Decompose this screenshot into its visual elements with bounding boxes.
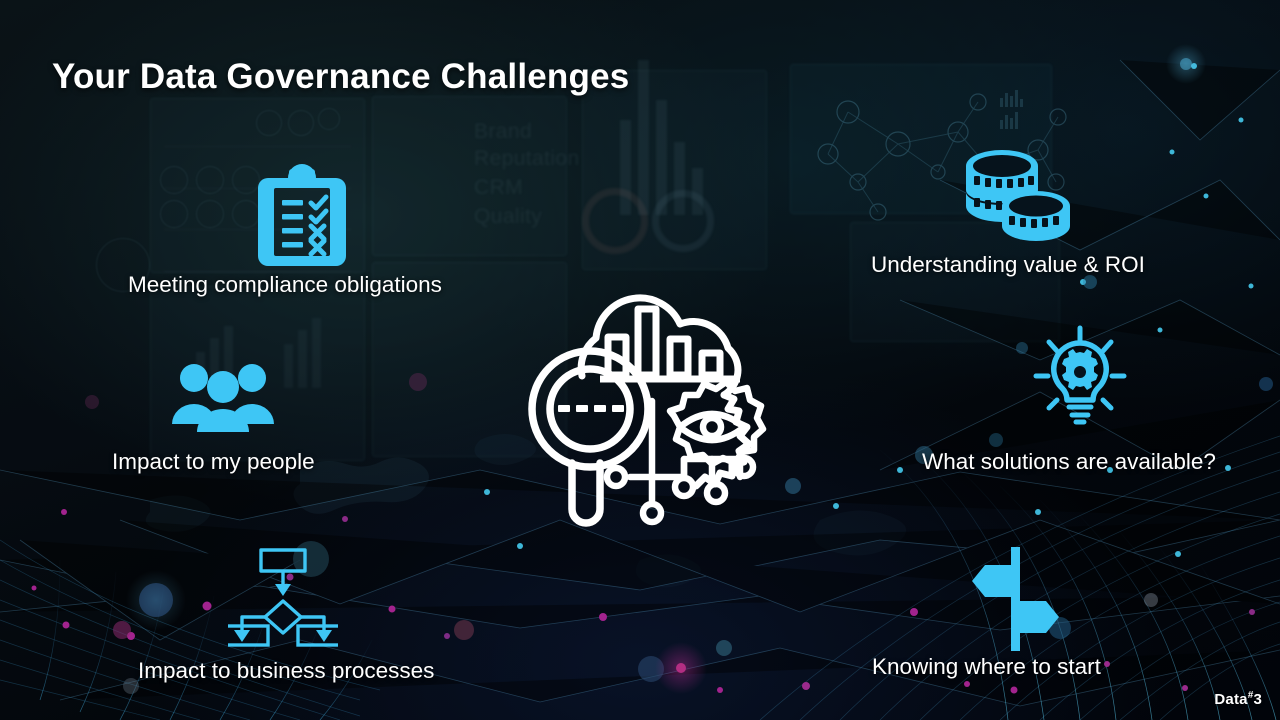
ghost-label-quality: Quality <box>474 205 542 229</box>
footer-brand-word: Data <box>1214 691 1247 708</box>
challenge-label-processes: Impact to business processes <box>138 658 434 684</box>
ghost-label-crm: CRM <box>474 176 523 200</box>
challenge-label-value-roi: Understanding value & ROI <box>871 252 1145 278</box>
challenge-label-solutions: What solutions are available? <box>922 449 1216 475</box>
slide-canvas: Brand Reputation CRM Quality <box>0 0 1280 720</box>
challenge-label-people: Impact to my people <box>112 449 315 475</box>
signpost-icon <box>970 543 1060 658</box>
clipboard-checklist-icon <box>255 164 349 273</box>
ghost-label-reputation: Reputation <box>474 147 580 171</box>
challenge-label-compliance: Meeting compliance obligations <box>128 272 442 298</box>
lightbulb-gear-icon <box>1032 325 1128 430</box>
footer-brand-logo: Data#3 <box>1214 690 1262 708</box>
challenge-label-start: Knowing where to start <box>872 654 1101 680</box>
stacked-coins-icon <box>962 146 1070 251</box>
footer-brand-number: 3 <box>1253 691 1262 708</box>
cloud-analytics-icon <box>512 281 772 536</box>
ghost-label-brand: Brand <box>474 120 532 144</box>
flowchart-icon <box>228 544 338 654</box>
page-title: Your Data Governance Challenges <box>52 57 629 97</box>
group-of-people-icon <box>170 362 276 437</box>
